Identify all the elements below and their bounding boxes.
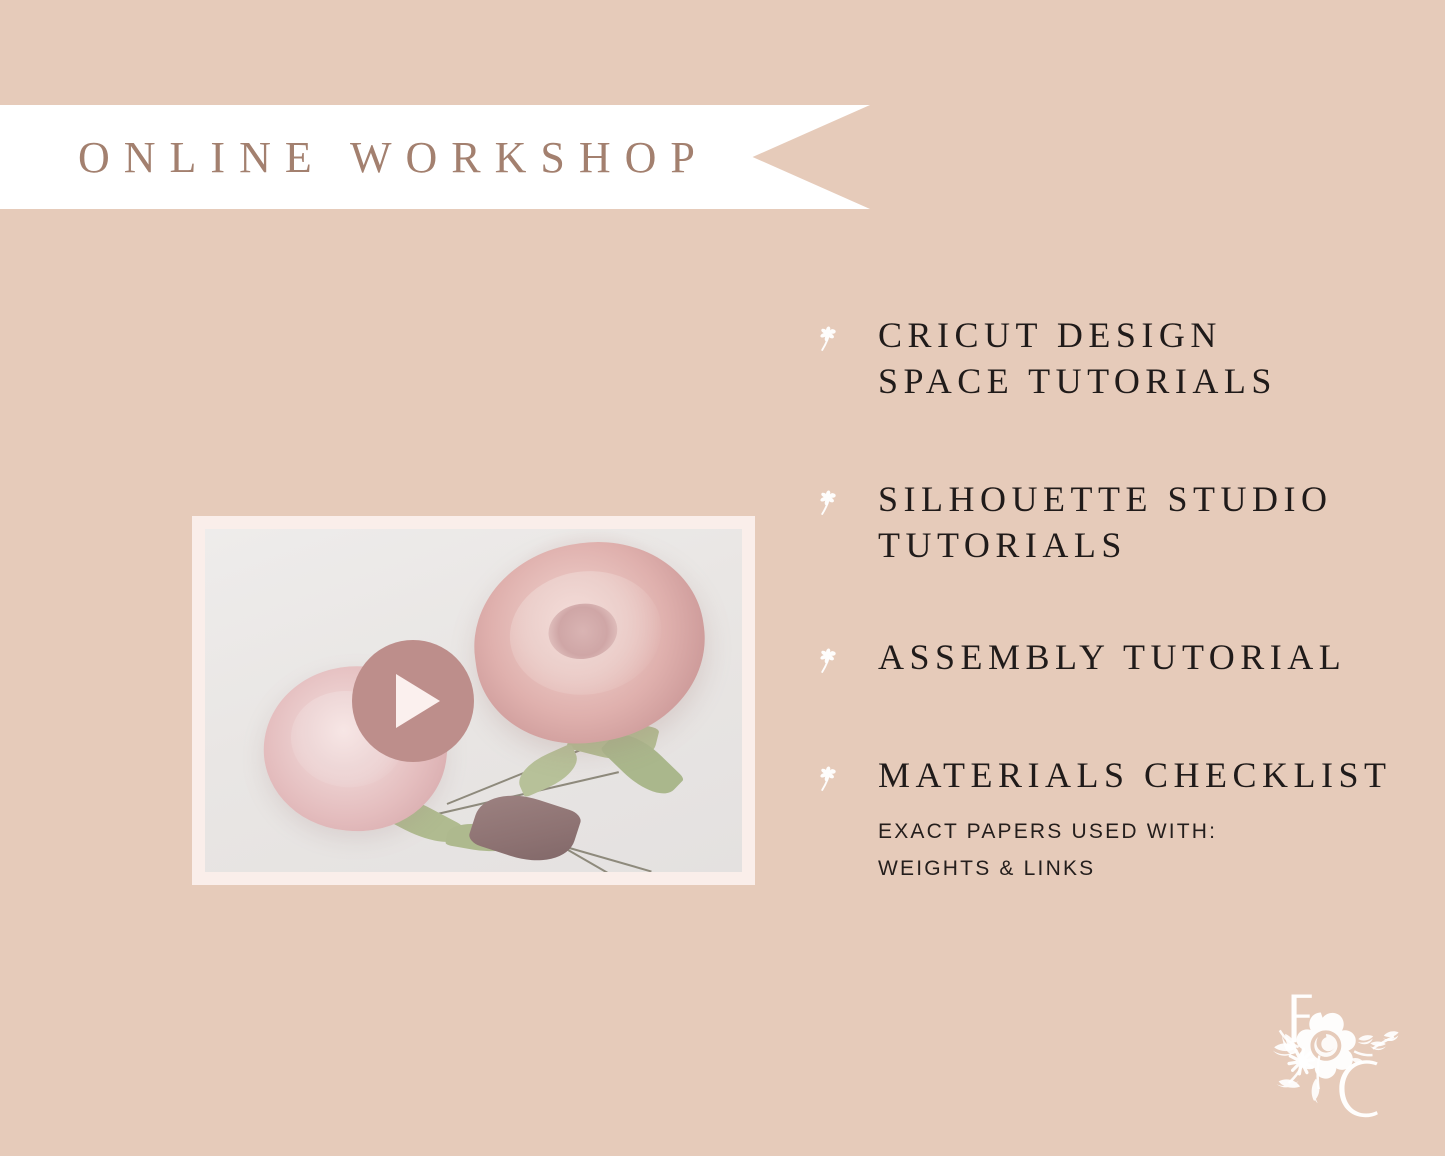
- feature-item-cricut: CRICUT DESIGN SPACE TUTORIALS: [812, 312, 1412, 404]
- video-card[interactable]: [192, 516, 755, 885]
- dark-leaf: [466, 782, 582, 872]
- feature-item-assembly: ASSEMBLY TUTORIAL: [812, 634, 1412, 680]
- page-title: ONLINE WORKSHOP: [78, 105, 709, 209]
- leaf: [513, 744, 584, 798]
- peony-photo: [205, 529, 742, 872]
- feature-item-materials: MATERIALS CHECKLIST EXACT PAPERS USED WI…: [812, 752, 1412, 888]
- header-banner: ONLINE WORKSHOP: [0, 105, 870, 209]
- leaf-sprig-icon: [816, 490, 844, 518]
- feature-label: ASSEMBLY TUTORIAL: [878, 634, 1412, 680]
- feature-item-silhouette: SILHOUETTE STUDIO TUTORIALS: [812, 476, 1412, 568]
- leaf-sprig-icon: [816, 766, 844, 794]
- peony-flower-large: [461, 529, 717, 757]
- feature-label: SILHOUETTE STUDIO TUTORIALS: [878, 476, 1412, 568]
- feature-label: CRICUT DESIGN SPACE TUTORIALS: [878, 312, 1412, 404]
- feature-list: CRICUT DESIGN SPACE TUTORIALS SILHOUETTE…: [812, 312, 1412, 888]
- feature-label: MATERIALS CHECKLIST: [878, 752, 1412, 798]
- play-icon: [396, 674, 440, 728]
- video-thumbnail[interactable]: [205, 529, 742, 872]
- leaf-sprig-icon: [816, 648, 844, 676]
- leaf-sprig-icon: [816, 326, 844, 354]
- feature-subtext: EXACT PAPERS USED WITH: WEIGHTS & LINKS: [878, 814, 1412, 888]
- play-button[interactable]: [352, 640, 474, 762]
- floral-monogram-logo: [1258, 992, 1404, 1122]
